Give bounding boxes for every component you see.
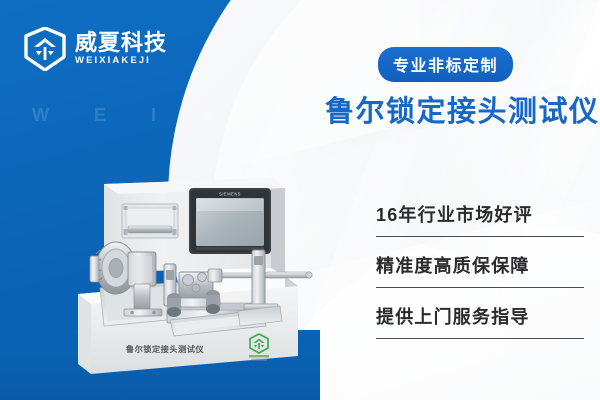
brand-logo: 威夏科技 WEIXIAKEJI	[24, 27, 167, 71]
feature-divider	[376, 236, 584, 237]
feature-list: 16年行业市场好评 精准度高质保保障 提供上门服务指导	[376, 196, 584, 349]
product-machine-image: SIEMENS	[66, 176, 326, 381]
promo-banner: 威夏科技 WEIXIAKEJI W E I X I A K 专业非标定制 鲁尔锁…	[0, 0, 600, 400]
custom-service-badge: 专业非标定制	[378, 47, 513, 82]
machine-base-label: 鲁尔锁定接头测试仪	[126, 344, 205, 354]
feature-item: 精准度高质保保障	[376, 247, 584, 287]
machine-bracket-panel	[122, 204, 178, 238]
feature-item: 16年行业市场好评	[376, 196, 584, 236]
brand-name-cn: 威夏科技	[75, 31, 167, 54]
hexagon-shield-logo-icon	[24, 27, 66, 71]
feature-item: 提供上门服务指导	[376, 298, 584, 338]
hmi-brand-label: SIEMENS	[219, 192, 241, 197]
machine-hmi-touchscreen[interactable]: SIEMENS	[189, 188, 271, 254]
feature-divider	[376, 338, 584, 339]
product-title: 鲁尔锁定接头测试仪	[325, 88, 600, 130]
brand-name-en: WEIXIAKEJI	[75, 55, 167, 67]
feature-divider	[376, 287, 584, 288]
